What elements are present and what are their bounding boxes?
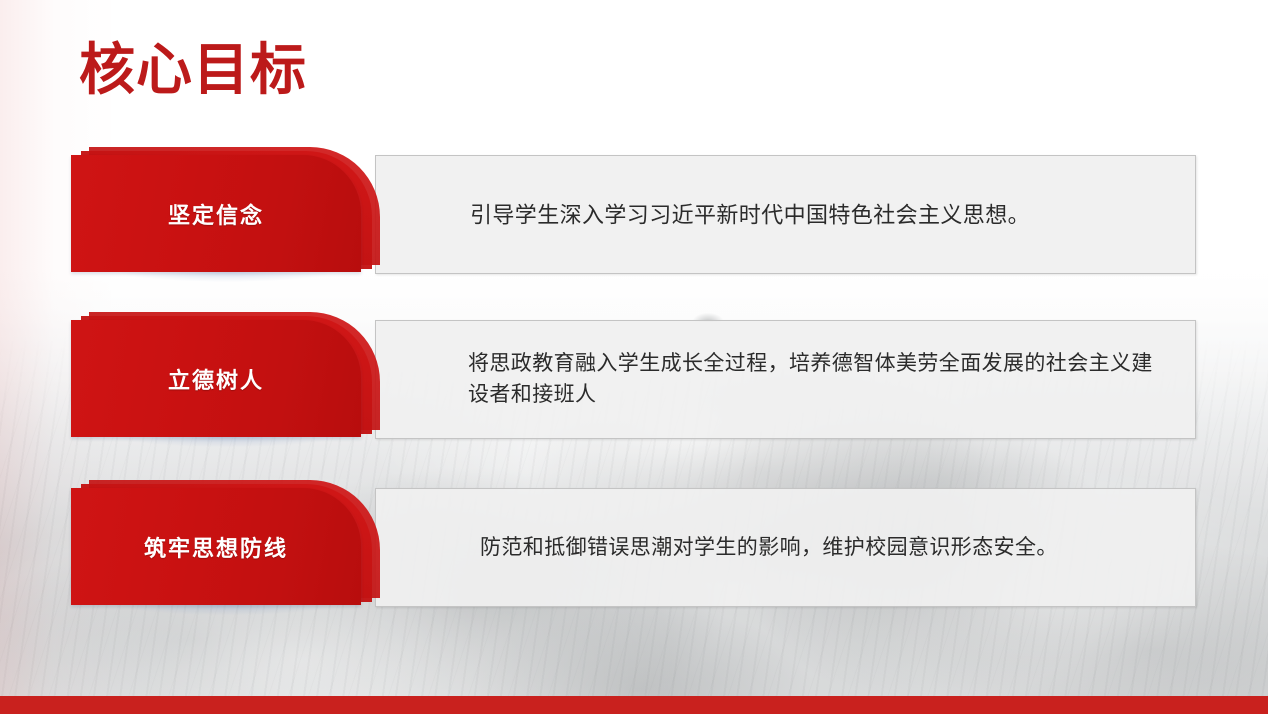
goal-description-panel: 引导学生深入学习习近平新时代中国特色社会主义思想。 (375, 155, 1196, 274)
slide-canvas: 核心目标 引导学生深入学习习近平新时代中国特色社会主义思想。 坚定信念 将思政教… (0, 0, 1268, 714)
label-plate-shadow (79, 437, 375, 463)
goal-row: 引导学生深入学习习近平新时代中国特色社会主义思想。 坚定信念 (71, 155, 1196, 274)
goal-label-plate[interactable]: 立德树人 (71, 320, 376, 437)
label-plate-shadow (79, 272, 375, 298)
goal-label-body: 坚定信念 (71, 155, 361, 272)
goal-label-text: 立德树人 (168, 363, 264, 395)
goal-label-body: 立德树人 (71, 320, 361, 437)
goal-list: 引导学生深入学习习近平新时代中国特色社会主义思想。 坚定信念 将思政教育融入学生… (0, 0, 1268, 714)
goal-label-plate[interactable]: 筑牢思想防线 (71, 488, 376, 605)
goal-description-panel: 将思政教育融入学生成长全过程，培养德智体美劳全面发展的社会主义建设者和接班人 (375, 320, 1196, 439)
goal-label-text: 坚定信念 (168, 198, 264, 230)
goal-row: 将思政教育融入学生成长全过程，培养德智体美劳全面发展的社会主义建设者和接班人 立… (71, 320, 1196, 439)
goal-label-body: 筑牢思想防线 (71, 488, 361, 605)
goal-description-panel: 防范和抵御错误思潮对学生的影响，维护校园意识形态安全。 (375, 488, 1196, 607)
goal-label-text: 筑牢思想防线 (144, 531, 288, 563)
goal-row: 防范和抵御错误思潮对学生的影响，维护校园意识形态安全。 筑牢思想防线 (71, 488, 1196, 607)
goal-description-text: 防范和抵御错误思潮对学生的影响，维护校园意识形态安全。 (480, 532, 1161, 564)
label-plate-shadow (79, 605, 375, 631)
goal-description-text: 引导学生深入学习习近平新时代中国特色社会主义思想。 (470, 198, 1161, 231)
goal-description-text: 将思政教育融入学生成长全过程，培养德智体美劳全面发展的社会主义建设者和接班人 (468, 348, 1161, 412)
bottom-accent-bar (0, 696, 1268, 714)
goal-label-plate[interactable]: 坚定信念 (71, 155, 376, 272)
